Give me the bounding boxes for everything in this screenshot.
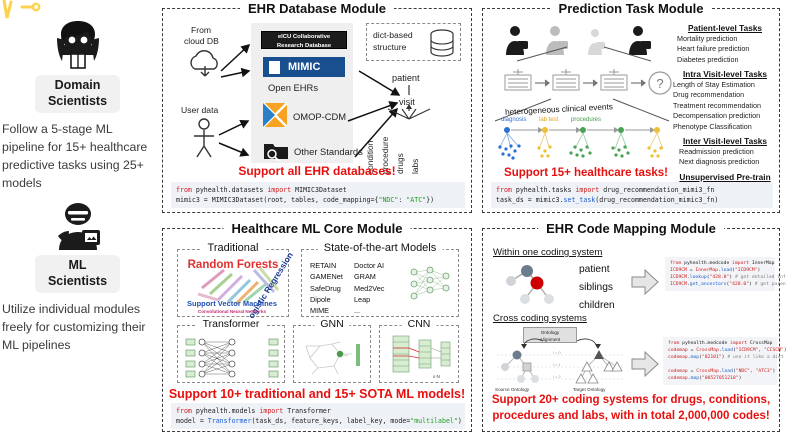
- persona-chip-ml: ML Scientists: [35, 255, 120, 293]
- task-item: Length of Stay Estimation: [673, 80, 781, 90]
- within-coding-relations: patient siblings children: [579, 261, 615, 315]
- panel-prediction-task-module: Prediction Task Module: [482, 8, 780, 213]
- task-group-heading: Patient-level Tasks: [669, 23, 781, 33]
- traditional-models-wordcloud: Random Forests Logistic Regression Suppo…: [178, 250, 290, 318]
- box-sota-models: State-of-the-art Models RETAIN GAMENet S…: [301, 249, 459, 317]
- sota-model: SafeDrug: [310, 283, 343, 294]
- svg-text:l = 2: l = 2: [553, 374, 561, 379]
- relation-item: patient: [579, 261, 615, 279]
- task-item: Heart failure prediction: [677, 44, 781, 54]
- task-group: Patient-level Tasks Mortality prediction…: [669, 23, 781, 65]
- ontology-box-line1: Ontology: [541, 330, 559, 335]
- svg-text:Random Forests: Random Forests: [188, 259, 279, 271]
- sota-model-col1: RETAIN GAMENet SafeDrug Dipole MIME: [310, 260, 343, 316]
- highlight-code-mapping-line1: Support 20+ coding systems for drugs, co…: [483, 394, 779, 406]
- code-prediction-task: from pyhealth.tasks import drug_recommen…: [491, 182, 773, 208]
- task-group: Inter Visit-level Tasks Readmission pred…: [669, 136, 781, 168]
- persona-chip-line1: Domain: [55, 78, 101, 92]
- sota-model: GAMENet: [310, 271, 343, 282]
- persona-column: Domain Scientists Follow a 5-stage ML pi…: [0, 0, 155, 441]
- task-item: Readmission prediction: [679, 147, 781, 157]
- inner-title-transformer: Transformer: [197, 318, 266, 330]
- panel-code-mapping-module: EHR Code Mapping Module Within one codin…: [482, 228, 780, 432]
- within-coding-tree-icon: [497, 261, 573, 309]
- persona-description-domain: Follow a 5-stage ML pipeline for 15+ hea…: [0, 121, 155, 192]
- folder-search-icon: [263, 139, 289, 161]
- persona-chip-line2: Scientists: [48, 274, 107, 288]
- svg-text:l = 0: l = 0: [553, 350, 561, 355]
- svg-text:x N: x N: [433, 374, 440, 379]
- highlight-ml-core: Support 10+ traditional and 15+ SOTA ML …: [163, 387, 471, 401]
- code-ml-core: from pyhealth.models import Transformer …: [171, 403, 465, 429]
- dict-line1: dict-based: [373, 30, 413, 40]
- dict-line2: structure: [373, 42, 406, 52]
- label-open-ehrs: Open EHRs: [268, 82, 318, 93]
- cross-ontology-diagram: l = 0 l = 1 l = 2 Source Ontology Target…: [491, 341, 631, 393]
- svg-text:?: ?: [656, 76, 663, 91]
- box-gnn: GNN: [293, 325, 371, 383]
- visit-sequence-diagram: ?: [499, 61, 674, 101]
- task-group: Intra Visit-level Tasks Length of Stay E…: [669, 69, 781, 132]
- box-traditional-models: Traditional Random Forests Logistic Regr…: [177, 249, 289, 317]
- code-inner-map: from pyhealth.medcode import InnerMap IC…: [665, 257, 775, 291]
- label-other-standards: Other Standards: [294, 146, 363, 157]
- right-arrow-icon-1: [631, 269, 659, 295]
- persona-description-ml: Utilize individual modules freely for cu…: [0, 301, 155, 354]
- gnn-graph-icon: [300, 336, 366, 380]
- figure-root: Domain Scientists Follow a 5-stage ML pi…: [0, 0, 786, 441]
- sota-model: Doctor AI: [354, 260, 384, 271]
- inner-title-gnn: GNN: [314, 318, 349, 330]
- domain-scientist-avatar-icon: [49, 20, 107, 70]
- sota-model: Dipole: [310, 294, 343, 305]
- mimic-logo: MIMIC: [263, 57, 345, 77]
- sota-model: Med2Vec: [354, 283, 384, 294]
- persona-ml-scientists: ML Scientists Utilize individual modules…: [0, 200, 155, 355]
- task-item: Phenotype Classification: [673, 122, 781, 132]
- svg-text:Convolutional Neural Networks: Convolutional Neural Networks: [198, 309, 267, 314]
- panel-ml-core-module: Healthcare ML Core Module Traditional Ra…: [162, 228, 472, 432]
- heading-within-one-coding-system: Within one coding system: [493, 247, 602, 258]
- svg-text:Source Ontology: Source Ontology: [495, 387, 530, 392]
- eicu-line2: Research Database: [277, 43, 331, 49]
- task-item: Next diagnosis prediction: [679, 157, 781, 167]
- svg-text:Support Vector Machines: Support Vector Machines: [187, 299, 277, 308]
- highlight-ehr-database: Support all EHR databases!: [163, 164, 471, 178]
- sota-model: ...: [354, 305, 384, 316]
- event-scatter-diagram: [497, 123, 677, 169]
- ml-scientist-avatar-icon: [49, 200, 107, 250]
- mimic-label: MIMIC: [288, 61, 320, 73]
- inner-title-cnn: CNN: [402, 318, 437, 330]
- sota-model-col2: Doctor AI GRAM Med2Vec Leap ...: [354, 260, 384, 316]
- task-item: Diabetes prediction: [677, 55, 781, 65]
- persona-chip-line1: ML: [68, 258, 86, 272]
- task-group-heading: Inter Visit-level Tasks: [669, 136, 781, 146]
- persona-chip-domain: Domain Scientists: [35, 75, 120, 113]
- panel-ehr-database-module: EHR Database Module From cloud DB User d…: [162, 8, 472, 213]
- box-transformer: Transformer: [177, 325, 285, 383]
- panel-title-code-mapping: EHR Code Mapping Module: [538, 221, 724, 236]
- highlight-prediction-task: Support 15+ healthcare tasks!: [491, 167, 681, 179]
- patient-cohort-icons: [503, 23, 668, 61]
- dict-structure-box: dict-based structure: [366, 23, 461, 61]
- relation-item: siblings: [579, 279, 615, 297]
- sota-model: RETAIN: [310, 260, 343, 271]
- neural-net-diagram-icon: [406, 264, 454, 306]
- inner-title-sota: State-of-the-art Models: [318, 242, 443, 254]
- box-cnn: CNN x N: [379, 325, 459, 383]
- task-group-list: Patient-level Tasks Mortality prediction…: [669, 23, 781, 192]
- task-item: Treatment recommendation: [673, 101, 781, 111]
- svg-text:l = 1: l = 1: [553, 362, 561, 367]
- code-ehr-database: from pyhealth.datasets import MIMIC3Data…: [171, 182, 465, 208]
- code-cross-map: from pyhealth.medcode import CrossMap co…: [663, 337, 777, 385]
- sota-model: GRAM: [354, 271, 384, 282]
- cnn-architecture-icon: x N: [385, 334, 457, 382]
- partial-logo-icon: [2, 0, 42, 22]
- right-arrow-icon-2: [631, 351, 659, 377]
- task-group-heading: Intra Visit-level Tasks: [669, 69, 781, 79]
- persona-chip-line2: Scientists: [48, 94, 107, 108]
- task-item: Drug recommendation: [673, 90, 781, 100]
- svg-text:Target Ontology: Target Ontology: [573, 387, 606, 392]
- database-cylinder-icon: [429, 29, 455, 57]
- panel-title-prediction-task: Prediction Task Module: [551, 1, 712, 16]
- persona-domain-scientists: Domain Scientists Follow a 5-stage ML pi…: [0, 20, 155, 193]
- heading-cross-coding-systems: Cross coding systems: [493, 313, 587, 324]
- relation-item: children: [579, 297, 615, 315]
- label-omop-cdm: OMOP-CDM: [293, 111, 346, 122]
- omop-logo-icon: [263, 103, 287, 127]
- task-item: Mortality prediction: [677, 34, 781, 44]
- panel-title-ml-core: Healthcare ML Core Module: [224, 221, 411, 236]
- sota-model: MIME: [310, 305, 343, 316]
- transformer-architecture-icon: [186, 336, 278, 380]
- task-item: Decompensation prediction: [673, 111, 781, 121]
- highlight-code-mapping-line2: procedures and labs, with in total 2,000…: [483, 410, 779, 422]
- sota-model: Leap: [354, 294, 384, 305]
- mimic-doc-icon: [269, 61, 280, 74]
- eicu-database-logo: eICU Collaborative Research Database: [261, 31, 347, 49]
- eicu-line1: eICU Collaborative: [278, 34, 330, 40]
